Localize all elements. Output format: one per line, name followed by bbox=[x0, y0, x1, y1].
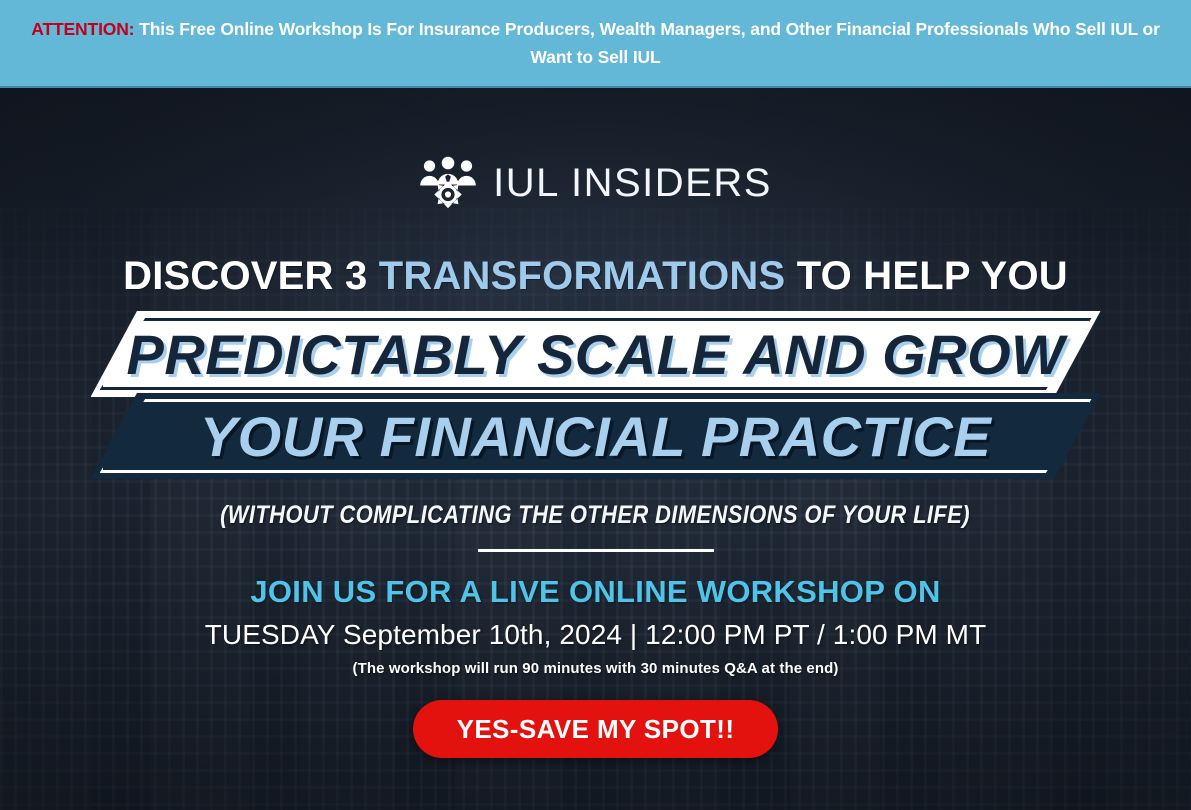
eyebrow-headline: DISCOVER 3 TRANSFORMATIONS TO HELP YOU bbox=[123, 254, 1068, 299]
section-divider bbox=[478, 549, 714, 552]
workshop-date-line: TUESDAY September 10th, 2024 | 12:00 PM … bbox=[205, 619, 987, 651]
eyebrow-suffix: TO HELP YOU bbox=[785, 254, 1067, 298]
join-us-line: JOIN US FOR A LIVE ONLINE WORKSHOP ON bbox=[250, 574, 940, 610]
attention-message: This Free Online Workshop Is For Insuran… bbox=[139, 19, 1160, 67]
headline-parenthetical: (WITHOUT COMPLICATING THE OTHER DIMENSIO… bbox=[221, 501, 971, 530]
headline-banner-line-1: PREDICTABLY SCALE AND GROW bbox=[126, 322, 1064, 387]
headline-banner-line-2: YOUR FINANCIAL PRACTICE bbox=[200, 404, 991, 469]
headline-banner-light: PREDICTABLY SCALE AND GROW bbox=[91, 311, 1101, 397]
brand-logo[interactable]: IUL INSIDERS bbox=[419, 156, 772, 210]
eyebrow-highlight: TRANSFORMATIONS bbox=[379, 254, 786, 298]
attention-bar: ATTENTION: This Free Online Workshop Is … bbox=[0, 0, 1191, 88]
save-my-spot-button[interactable]: YES-SAVE MY SPOT!! bbox=[413, 700, 779, 758]
headline-banner-dark: YOUR FINANCIAL PRACTICE bbox=[91, 393, 1101, 479]
eyebrow-prefix: DISCOVER 3 bbox=[123, 254, 379, 298]
hero-content: IUL INSIDERS DISCOVER 3 TRANSFORMATIONS … bbox=[0, 88, 1191, 758]
workshop-fine-print: (The workshop will run 90 minutes with 3… bbox=[352, 660, 838, 677]
workshop-date-time: September 10th, 2024 | 12:00 PM PT / 1:0… bbox=[343, 619, 986, 650]
hero-section: IUL INSIDERS DISCOVER 3 TRANSFORMATIONS … bbox=[0, 88, 1191, 810]
logo-wordmark: IUL INSIDERS bbox=[493, 161, 772, 206]
three-people-target-icon bbox=[419, 156, 477, 210]
headline-banner-stack: PREDICTABLY SCALE AND GROW YOUR FINANCIA… bbox=[91, 311, 1101, 479]
attention-label: ATTENTION: bbox=[31, 19, 134, 39]
attention-text: ATTENTION: This Free Online Workshop Is … bbox=[31, 15, 1161, 72]
workshop-day-of-week: TUESDAY bbox=[205, 619, 335, 650]
